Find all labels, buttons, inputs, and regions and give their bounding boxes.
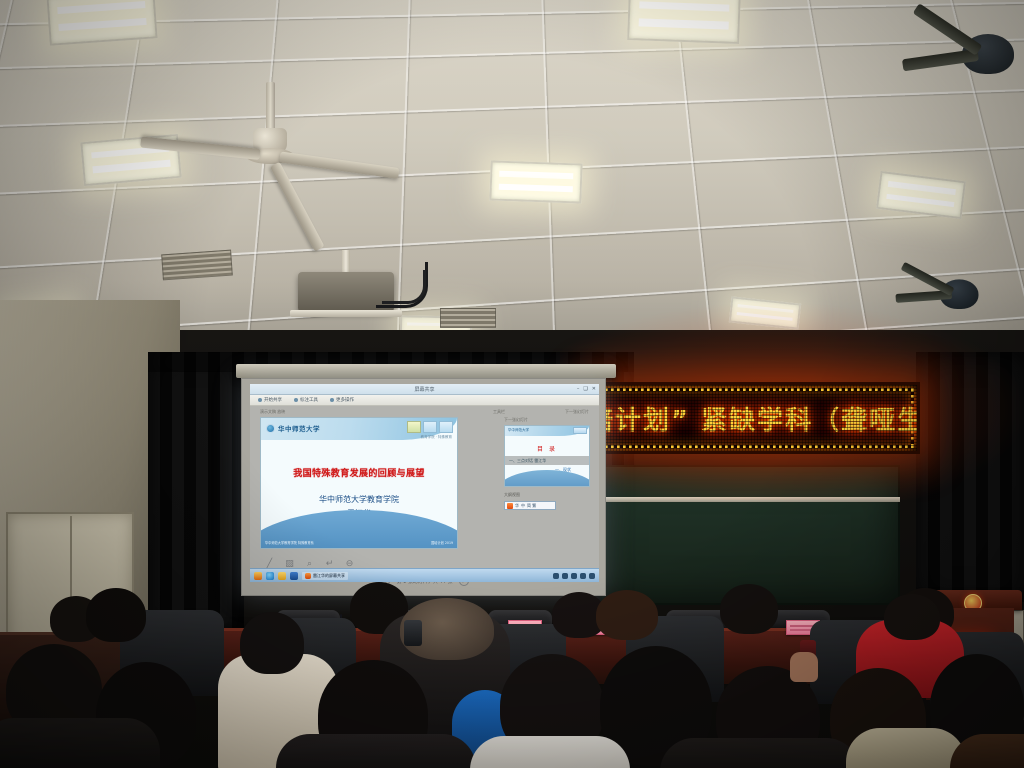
header-thumb xyxy=(439,421,453,433)
ime-logo-icon xyxy=(507,503,513,509)
window-toolbar[interactable]: 开始共享 标注工具 更多操作 xyxy=(250,395,599,406)
slide-affiliation: 华中师范大学教育学院 xyxy=(261,494,457,505)
audience-head xyxy=(596,590,658,640)
window-title: 屏幕共享 xyxy=(414,386,434,393)
audience-head xyxy=(884,594,940,640)
led-marquee-sign: 国培计划” 紧缺学科（聋哑生） xyxy=(592,382,920,454)
audience-shoulders-white xyxy=(470,736,630,768)
toolbar-item-annotate[interactable]: 标注工具 xyxy=(294,397,318,403)
toolbar-label-share: 开始共享 xyxy=(264,397,282,403)
logo-mark-icon xyxy=(266,424,275,433)
next-slide-panel: 下一张幻灯片 华中师范大学 目 录 一、三点对话 雷江华 一、现状 二、走向 大… xyxy=(504,417,590,510)
audience-shoulders xyxy=(660,738,860,768)
close-icon[interactable]: ✕ xyxy=(592,386,596,392)
audience-shoulders-tan xyxy=(846,728,966,768)
share-icon xyxy=(258,398,262,402)
next-slide-label: 下一张幻灯片 xyxy=(504,417,590,423)
header-thumb xyxy=(407,421,421,433)
audience-head xyxy=(240,612,304,674)
more-icon xyxy=(330,398,334,402)
panel-light xyxy=(627,0,741,44)
audience-shoulders xyxy=(0,718,160,768)
ime-extra[interactable]: 简 繁 xyxy=(527,503,536,509)
mini-slide-logo: 华中师范大学 xyxy=(508,428,529,433)
stage-curtain-far-right xyxy=(916,352,1024,602)
screen-roller-case xyxy=(236,364,616,378)
toolbar-item-share[interactable]: 开始共享 xyxy=(258,397,282,403)
header-thumb xyxy=(423,421,437,433)
ime-status-bar[interactable]: 华 中 简 繁 xyxy=(504,501,556,510)
workspace-hint-right: 下一张幻灯片 xyxy=(565,409,589,415)
audience-hand xyxy=(790,652,818,682)
next-slide-thumbnail[interactable]: 华中师范大学 目 录 一、三点对话 雷江华 一、现状 二、走向 xyxy=(504,425,590,487)
maximize-icon[interactable]: ❑ xyxy=(583,386,587,392)
lecture-hall-photo: 国培计划” 紧缺学科（聋哑生） 屏幕共享 – ❑ ✕ 开始共享 xyxy=(0,0,1024,768)
mini-slide-thumb xyxy=(573,427,587,434)
audience-phone-left xyxy=(404,620,422,646)
ime-indicator: 华 xyxy=(515,503,519,509)
slide-footer-left: 华中师范大学教育学院 特殊教育系 xyxy=(265,540,314,545)
toolbar-label-more: 更多操作 xyxy=(336,397,354,403)
toolbar-item-more[interactable]: 更多操作 xyxy=(330,397,354,403)
mini-slide-title: 目 录 xyxy=(505,444,589,453)
mini-slide-bar: 一、三点对话 雷江华 xyxy=(505,456,589,465)
panel-light xyxy=(46,0,157,46)
audience-shoulders xyxy=(276,734,476,768)
chalk-rail xyxy=(600,497,900,502)
outline-note: 大纲视图 xyxy=(504,492,590,498)
annotate-icon xyxy=(294,398,298,402)
ceiling-vent xyxy=(161,250,233,281)
window-title-bar[interactable]: 屏幕共享 – ❑ ✕ xyxy=(250,384,599,395)
window-controls[interactable]: – ❑ ✕ xyxy=(577,386,596,392)
mini-slide-wave xyxy=(504,470,590,487)
slide-footer-right: 国培计划 2019 xyxy=(431,540,453,545)
slide-header-thumbs xyxy=(407,421,453,433)
ime-mode[interactable]: 中 xyxy=(521,503,525,509)
slide-header-note: 教育学院 · 特殊教育 xyxy=(421,435,452,440)
minimize-icon[interactable]: – xyxy=(577,386,580,392)
ceiling-vent xyxy=(440,308,496,328)
slide-title: 我国特殊教育发展的回顾与展望 xyxy=(261,466,457,479)
logo-text: 华中师范大学 xyxy=(278,423,320,433)
toolbar-label-annotate: 标注工具 xyxy=(300,397,318,403)
audience-area xyxy=(0,568,1024,768)
screen-share-window[interactable]: 屏幕共享 – ❑ ✕ 开始共享 标注工具 更多操作 xyxy=(250,384,599,582)
led-pixel-overlay xyxy=(595,385,917,451)
audience-head xyxy=(86,588,146,642)
university-logo: 华中师范大学 xyxy=(266,423,320,433)
audience-head xyxy=(720,584,778,634)
projection-screen: 屏幕共享 – ❑ ✕ 开始共享 标注工具 更多操作 xyxy=(241,378,606,596)
workspace-hint-left: 演示文稿 放映 xyxy=(260,409,285,415)
workspace-hint-mid: 工具栏 xyxy=(493,409,505,415)
current-slide[interactable]: 华中师范大学 教育学院 · 特殊教育 我国特殊教育发展的回顾与展望 华中师范大学… xyxy=(260,417,458,549)
panel-light xyxy=(489,160,582,203)
presentation-workspace: 演示文稿 放映 工具栏 下一张幻灯片 华中师范大学 教育学院 · 特殊教 xyxy=(250,406,599,582)
